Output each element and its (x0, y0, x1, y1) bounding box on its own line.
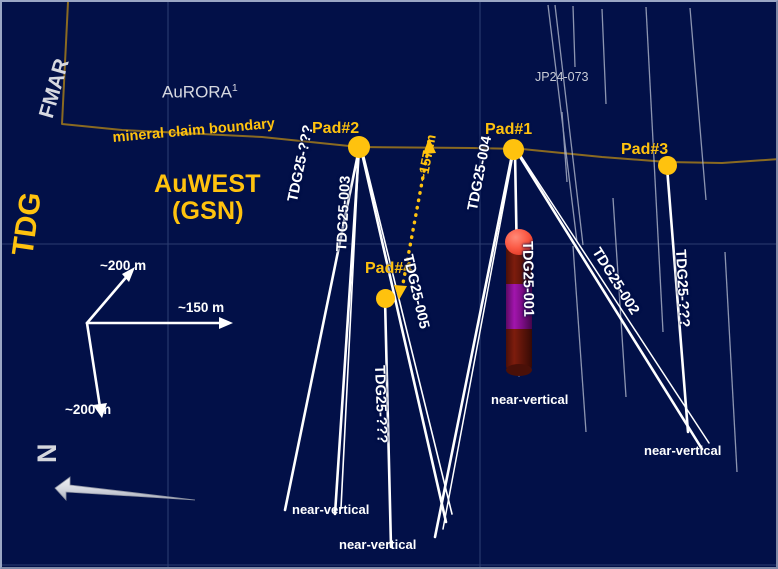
trace-tdg25-005 (361, 149, 446, 522)
map-canvas (2, 2, 778, 569)
trace-tdg25-004 (435, 150, 513, 537)
distance-arrow-157m (394, 138, 436, 300)
drill-plan-map: FMAR AuRORA1 TDG AuWEST (GSN) mineral cl… (0, 0, 778, 569)
tdg25-001-core-cylinder (505, 229, 533, 376)
trace-tdg25-002b (519, 153, 709, 443)
trace-tdg25-unk-b (385, 299, 391, 547)
pad-marker-pad-2[interactable] (348, 136, 370, 158)
trace-tdg25-004b (443, 150, 514, 529)
trace-tdg25-002 (517, 152, 702, 449)
scale-bar (87, 267, 233, 418)
trace-tdg25-003b (341, 149, 359, 508)
pad-marker-pad-1[interactable] (503, 139, 524, 160)
mineral-claim-boundary-line (62, 2, 778, 163)
north-arrow (55, 477, 195, 500)
drill-traces (285, 149, 709, 547)
trace-tdg25-unk-c (667, 167, 688, 432)
historic-drill-traces (548, 5, 737, 472)
trace-tdg25-005b (362, 149, 452, 514)
pad-marker-pad-4[interactable] (376, 289, 395, 308)
pad-marker-pad-3[interactable] (658, 156, 677, 175)
